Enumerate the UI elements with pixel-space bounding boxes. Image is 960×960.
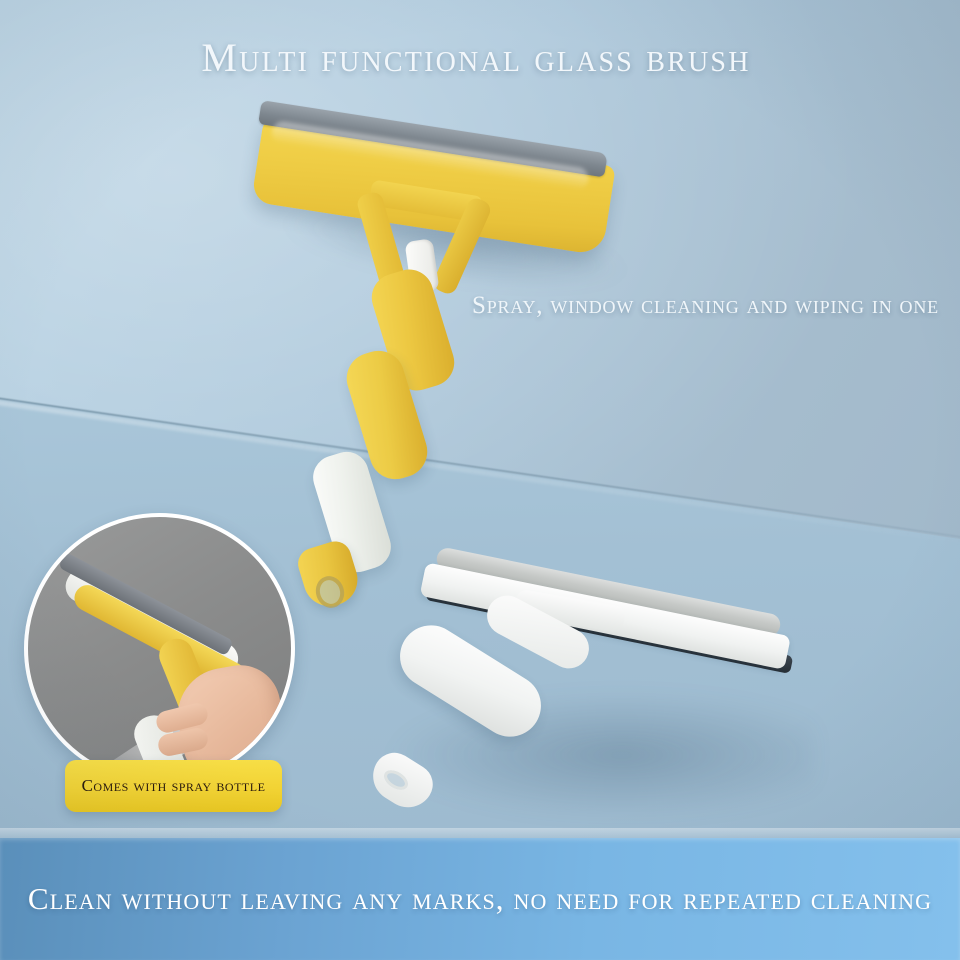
page-subtitle: Spray, window cleaning and wiping in one [472, 292, 939, 320]
page-title: Multi functional glass brush [0, 34, 952, 81]
bottom-banner: Clean without leaving any marks, no need… [0, 838, 960, 960]
vignette-overlay [0, 0, 960, 960]
bottom-banner-text: Clean without leaving any marks, no need… [28, 881, 932, 917]
product-banner-image: Comes with spray bottle Multi functional… [0, 0, 960, 960]
